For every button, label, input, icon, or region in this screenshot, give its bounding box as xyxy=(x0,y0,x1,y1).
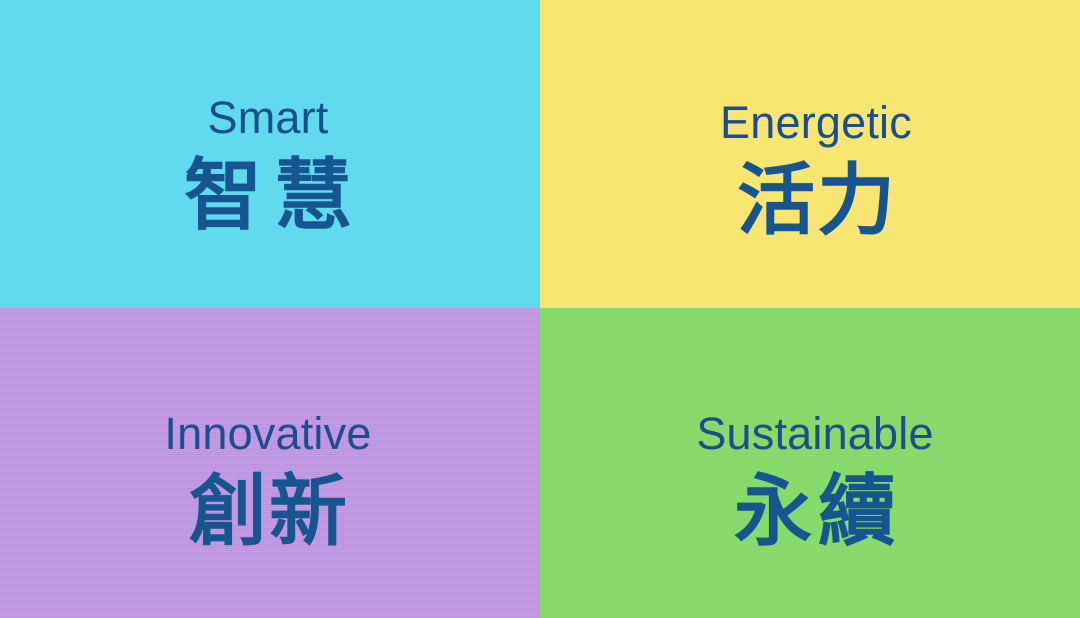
label-chinese-innovative: 創新 xyxy=(164,470,371,554)
quadrant-grid: Smart 智慧 Energetic 活力 Innovative 創新 Sust… xyxy=(0,0,1080,618)
label-english-smart: Smart xyxy=(172,95,364,140)
quadrant-energetic[interactable]: Energetic 活力 xyxy=(540,0,1080,308)
label-block-sustainable: Sustainable 永續 xyxy=(696,411,933,554)
label-english-innovative: Innovative xyxy=(164,411,371,456)
label-block-innovative: Innovative 創新 xyxy=(164,411,371,554)
label-block-smart: Smart 智慧 xyxy=(172,95,364,238)
label-english-sustainable: Sustainable xyxy=(696,411,933,456)
quadrant-sustainable[interactable]: Sustainable 永續 xyxy=(540,308,1080,618)
quadrant-innovative[interactable]: Innovative 創新 xyxy=(0,308,540,618)
label-chinese-smart: 智慧 xyxy=(172,154,364,238)
brand-values-canvas: Smart 智慧 Energetic 活力 Innovative 創新 Sust… xyxy=(0,0,1080,618)
label-english-energetic: Energetic xyxy=(720,100,912,145)
label-chinese-energetic: 活力 xyxy=(720,159,912,243)
label-chinese-sustainable: 永續 xyxy=(696,470,933,554)
label-block-energetic: Energetic 活力 xyxy=(720,100,912,243)
quadrant-smart[interactable]: Smart 智慧 xyxy=(0,0,540,308)
